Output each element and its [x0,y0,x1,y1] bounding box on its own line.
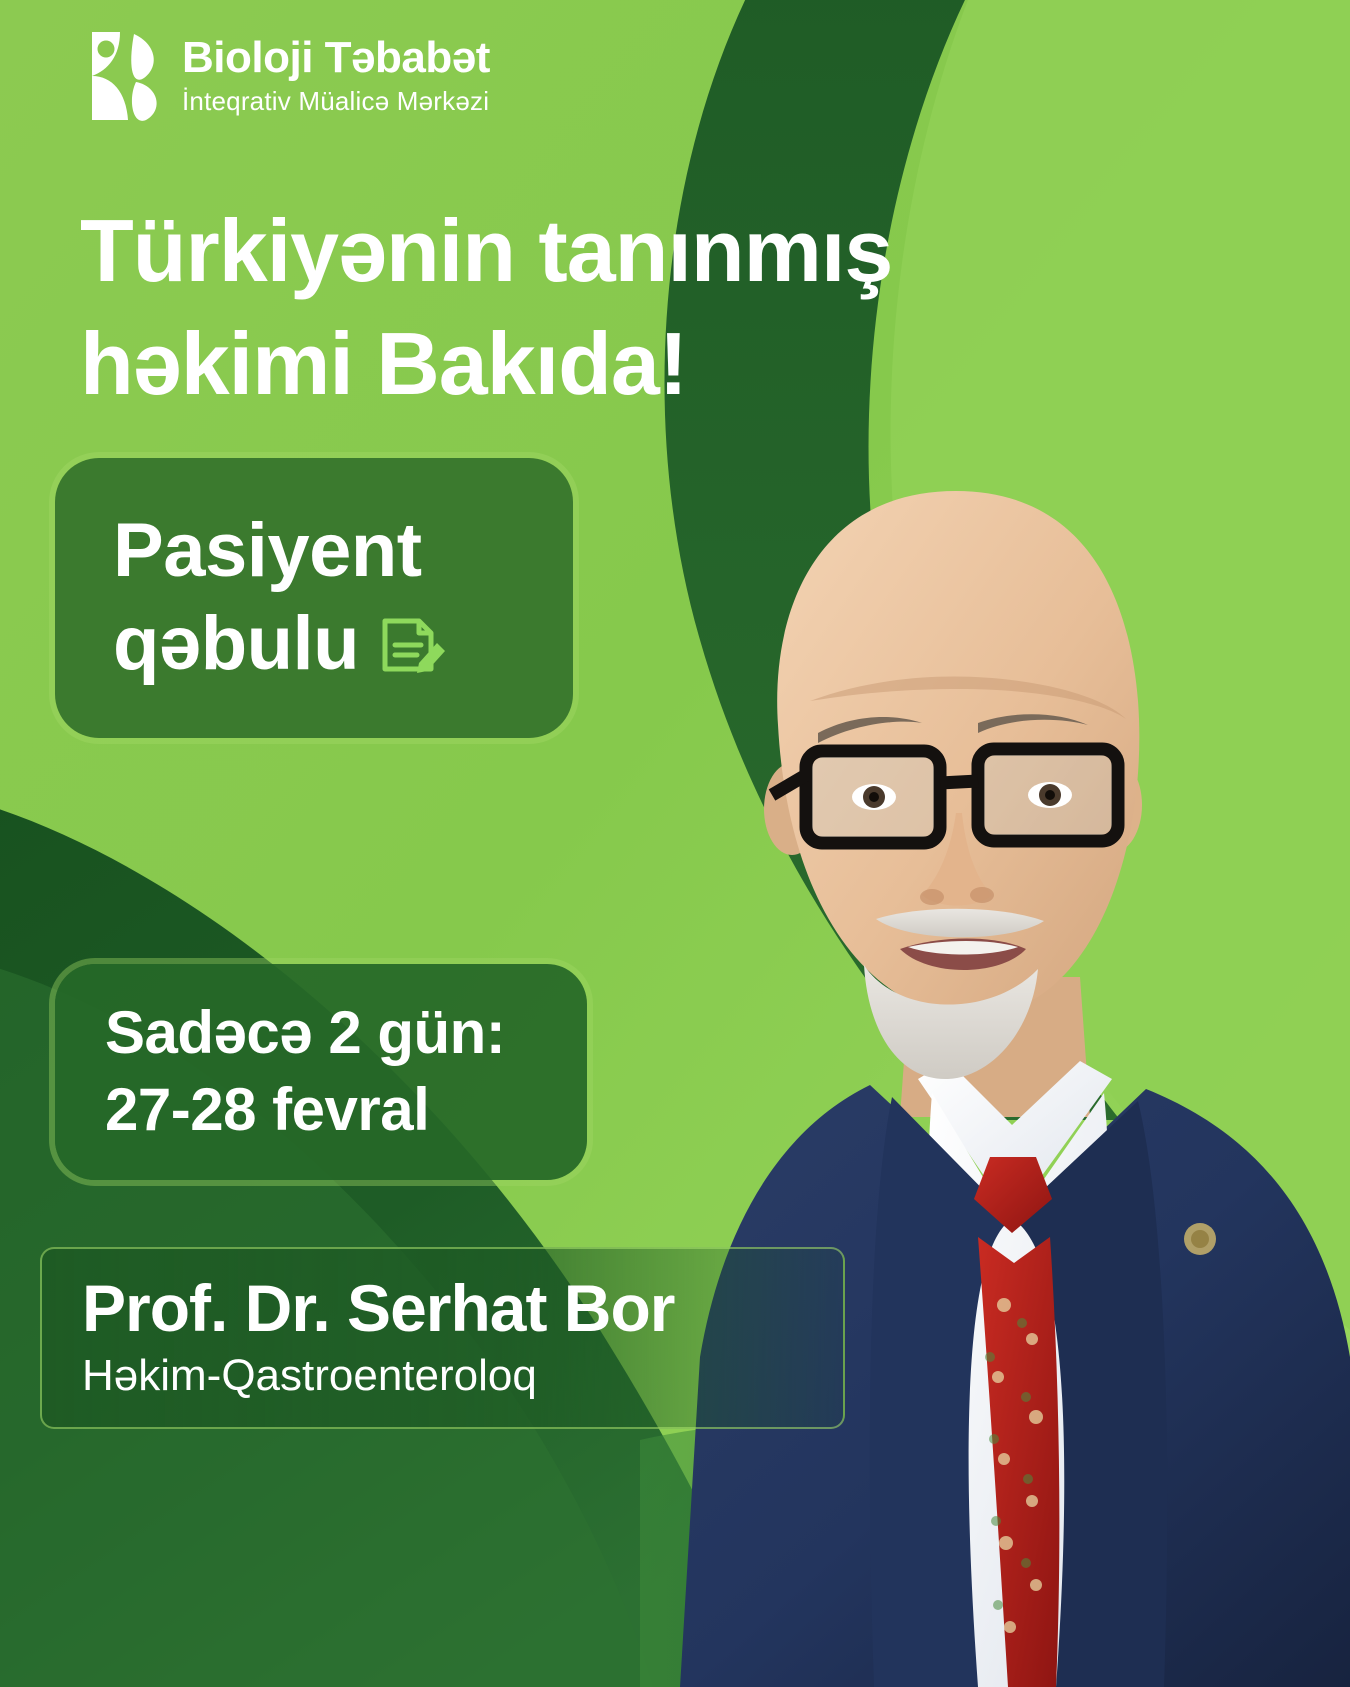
date-badge: Sadəcə 2 gün: 27-28 fevral [55,964,587,1180]
brand-logo-text: Bioloji Təbabət İnteqrativ Müalicə Mərkə… [182,35,490,116]
patient-admission-line-2: qəbulu [113,598,359,691]
doctor-name: Prof. Dr. Serhat Bor [82,1274,843,1343]
doctor-name-card: Prof. Dr. Serhat Bor Həkim-Qastroenterol… [40,1247,845,1429]
patient-admission-line-1: Pasiyent [113,505,447,598]
headline-line-2: həkimi Bakıda! [80,308,980,421]
date-badge-line-1: Sadəcə 2 gün: [105,995,587,1072]
date-badge-text: Sadəcə 2 gün: 27-28 fevral [105,995,587,1149]
brand-subtitle: İnteqrativ Müalicə Mərkəzi [182,86,490,117]
headline: Türkiyənin tanınmış həkimi Bakıda! [80,195,980,420]
brand-title: Bioloji Təbabət [182,35,490,81]
doctor-portrait-image [660,457,1350,1687]
bioloji-tebabet-logo-mark-icon [86,26,164,126]
memo-pencil-icon [373,607,447,681]
patient-admission-text: Pasiyent qəbulu [113,505,447,690]
promo-poster: Bioloji Təbabət İnteqrativ Müalicə Mərkə… [0,0,1350,1687]
date-badge-line-2: 27-28 fevral [105,1072,587,1149]
patient-admission-badge[interactable]: Pasiyent qəbulu [55,458,573,738]
doctor-role: Həkim-Qastroenteroloq [82,1351,843,1402]
headline-line-1: Türkiyənin tanınmış [80,201,892,300]
brand-logo: Bioloji Təbabət İnteqrativ Müalicə Mərkə… [86,26,490,126]
patient-admission-line-2-row: qəbulu [113,598,447,691]
